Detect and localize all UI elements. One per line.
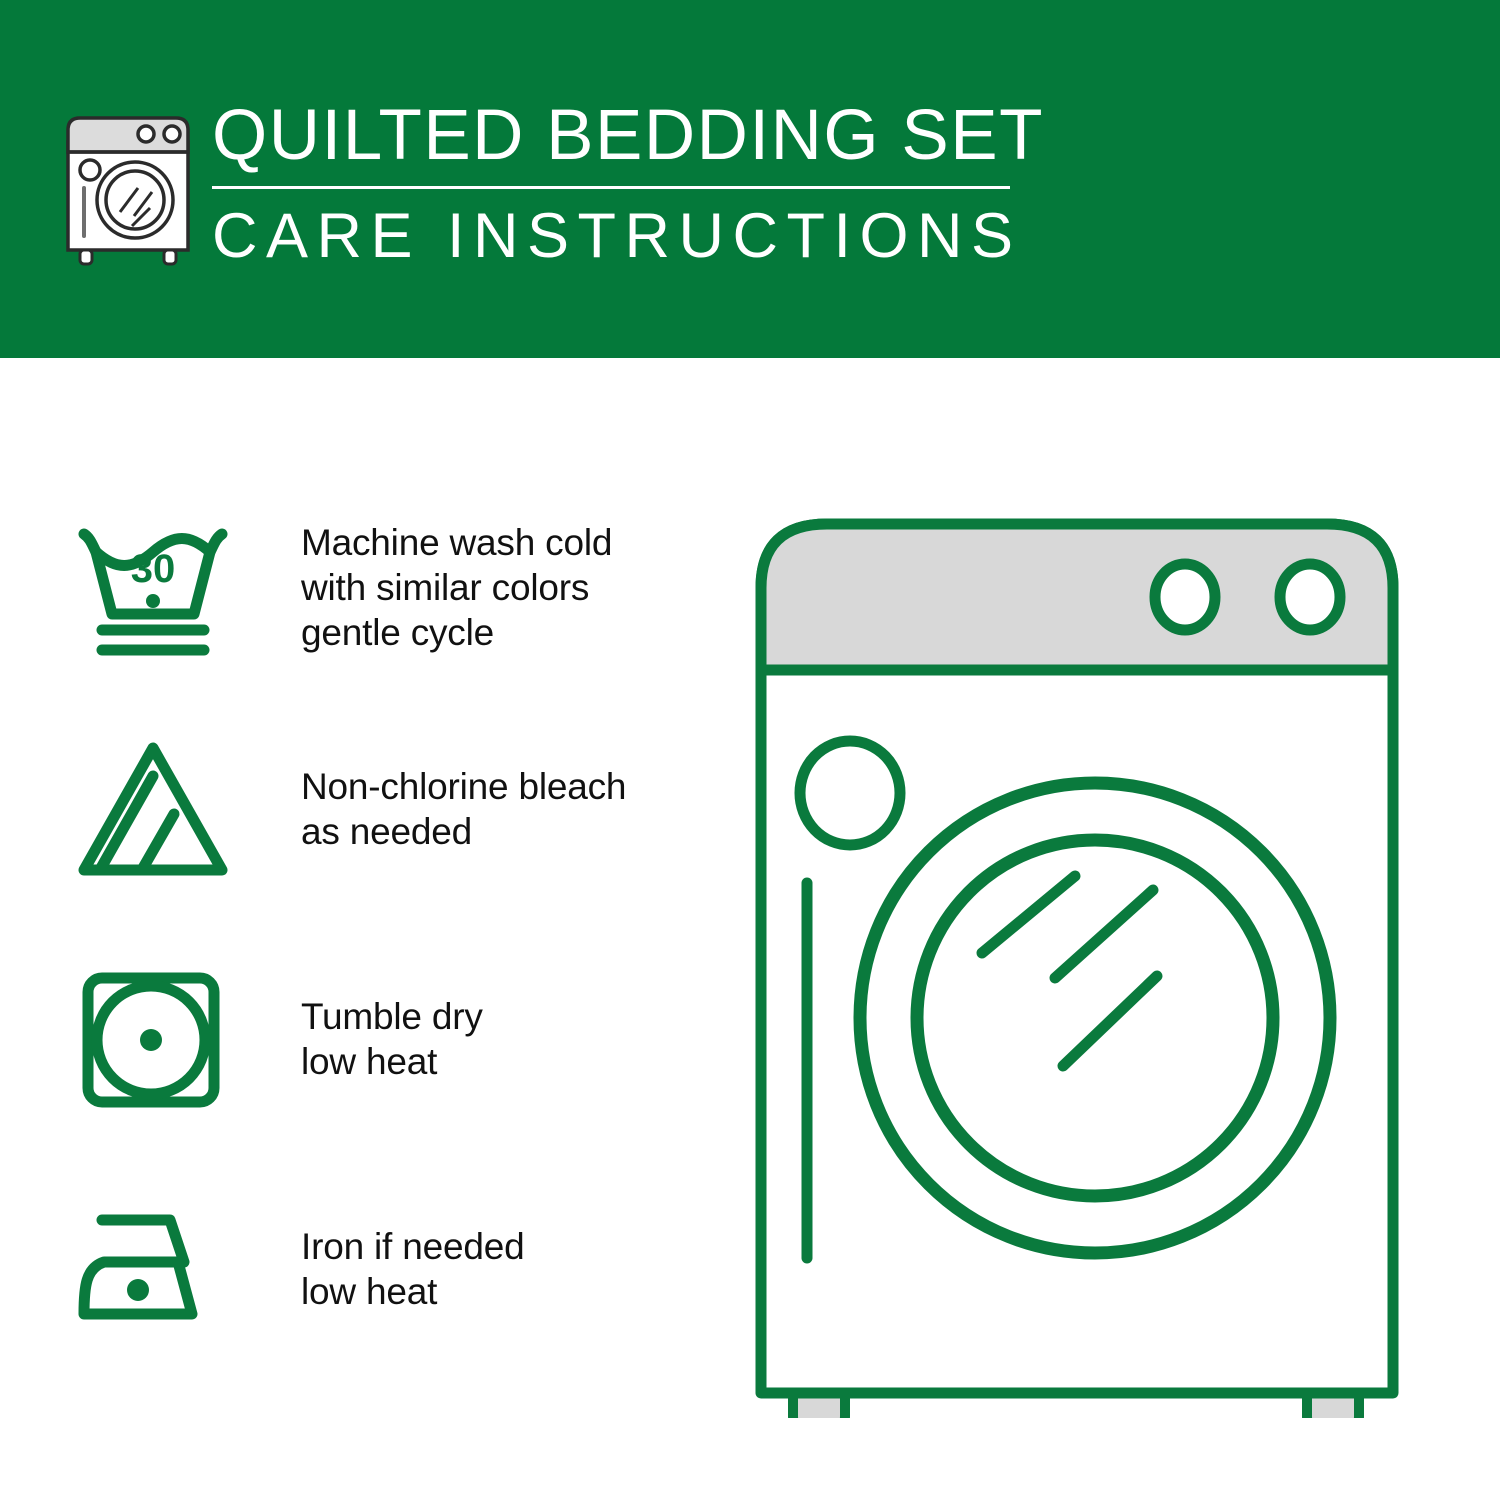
care-label-bleach: Non-chlorine bleach as needed (301, 764, 626, 854)
non-chlorine-bleach-triangle-icon (70, 730, 235, 888)
washing-machine-icon (62, 108, 194, 268)
header-band: QUILTED BEDDING SET CARE INSTRUCTIONS (0, 0, 1500, 358)
care-row-iron: Iron if needed low heat (70, 1190, 710, 1348)
care-label-line: low heat (301, 1039, 483, 1084)
header-text-block: QUILTED BEDDING SET CARE INSTRUCTIONS (212, 96, 1022, 271)
care-row-bleach: Non-chlorine bleach as needed (70, 730, 710, 888)
care-label-machine-wash: Machine wash cold with similar colors ge… (301, 520, 612, 655)
care-label-line: gentle cycle (301, 610, 612, 655)
title-divider (212, 186, 1010, 189)
care-label-tumble-dry: Tumble dry low heat (301, 994, 483, 1084)
page-subtitle: CARE INSTRUCTIONS (212, 201, 1022, 271)
care-label-line: as needed (301, 809, 626, 854)
care-row-machine-wash: 30 Machine wash cold with similar colors… (70, 508, 710, 666)
care-label-line: with similar colors (301, 565, 612, 610)
care-label-line: low heat (301, 1269, 524, 1314)
control-knob-right (1280, 564, 1340, 630)
care-label-line: Machine wash cold (301, 520, 612, 565)
care-label-line: Non-chlorine bleach (301, 764, 626, 809)
care-row-tumble-dry: Tumble dry low heat (70, 960, 710, 1118)
door-inner-ring (917, 840, 1273, 1196)
control-knob-left (1155, 564, 1215, 630)
page-title: QUILTED BEDDING SET (212, 96, 1022, 176)
care-label-iron: Iron if needed low heat (301, 1224, 524, 1314)
indicator-circle (800, 741, 900, 845)
care-label-line: Iron if needed (301, 1224, 524, 1269)
wash-temperature-value: 30 (131, 547, 176, 591)
care-label-line: Tumble dry (301, 994, 483, 1039)
tumble-dry-low-heat-icon (70, 960, 235, 1118)
iron-low-heat-icon (70, 1190, 235, 1348)
front-load-washing-machine-illustration (745, 498, 1445, 1418)
care-instructions-page: QUILTED BEDDING SET CARE INSTRUCTIONS (0, 0, 1500, 1500)
machine-wash-30-gentle-icon: 30 (70, 508, 235, 666)
